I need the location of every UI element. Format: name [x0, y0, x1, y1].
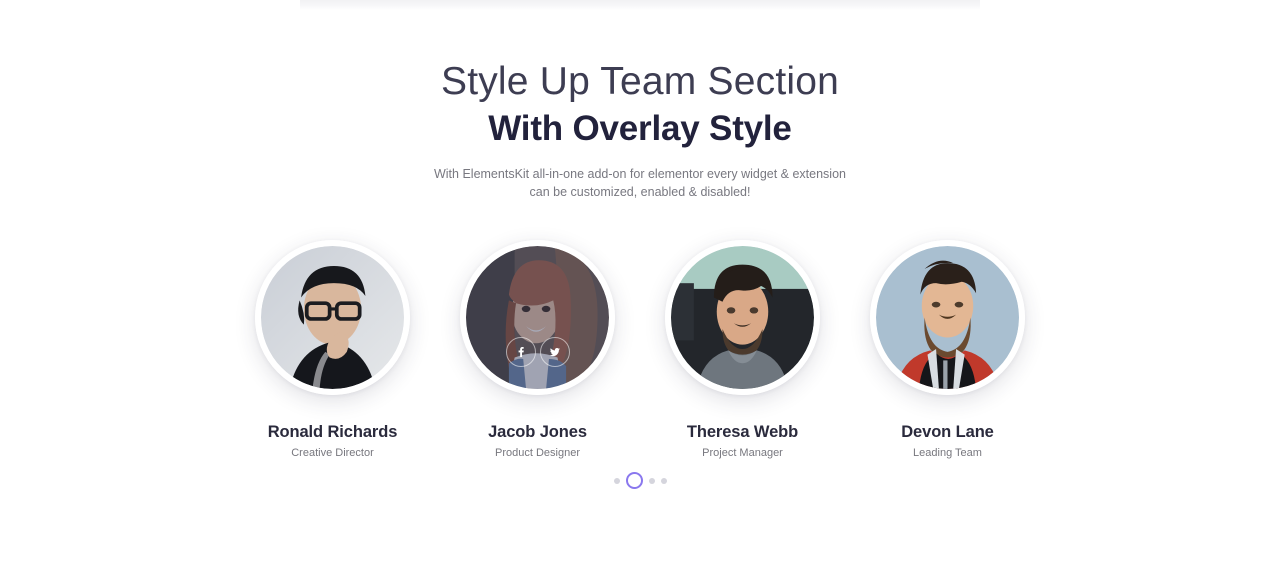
pagination-dot-active[interactable] — [626, 472, 643, 489]
member-role: Creative Director — [291, 447, 374, 459]
pagination-dot[interactable] — [614, 478, 620, 484]
team-members-row: Ronald Richards Creative Director — [0, 240, 1280, 459]
team-member-card[interactable]: Devon Lane Leading Team — [870, 240, 1025, 459]
section-subtitle: With ElementsKit all-in-one add-on for e… — [430, 165, 850, 201]
social-overlay — [466, 246, 609, 389]
member-name: Theresa Webb — [687, 423, 798, 442]
member-role: Leading Team — [913, 447, 982, 459]
avatar-wrapper[interactable] — [870, 240, 1025, 395]
section-header: Style Up Team Section With Overlay Style… — [0, 0, 1280, 201]
subtitle-line-1: With ElementsKit all-in-one add-on for e… — [434, 167, 846, 181]
avatar — [261, 246, 404, 389]
member-name: Devon Lane — [901, 423, 994, 442]
pagination-dot[interactable] — [649, 478, 655, 484]
team-member-card[interactable]: Jacob Jones Product Designer — [460, 240, 615, 459]
section-title-bold: With Overlay Style — [0, 108, 1280, 149]
member-name: Ronald Richards — [268, 423, 398, 442]
member-role: Product Designer — [495, 447, 580, 459]
avatar-wrapper[interactable] — [255, 240, 410, 395]
team-member-card[interactable]: Ronald Richards Creative Director — [255, 240, 410, 459]
facebook-icon[interactable] — [506, 337, 536, 367]
team-section-page: Style Up Team Section With Overlay Style… — [0, 0, 1280, 562]
member-role: Project Manager — [702, 447, 783, 459]
social-links — [506, 337, 570, 367]
subtitle-line-2: can be customized, enabled & disabled! — [530, 185, 751, 199]
avatar — [671, 246, 814, 389]
team-member-card[interactable]: Theresa Webb Project Manager — [665, 240, 820, 459]
pagination-dot[interactable] — [661, 478, 667, 484]
avatar-wrapper[interactable] — [665, 240, 820, 395]
twitter-icon[interactable] — [540, 337, 570, 367]
carousel-pagination[interactable] — [0, 472, 1280, 489]
avatar-wrapper[interactable] — [460, 240, 615, 395]
member-name: Jacob Jones — [488, 423, 587, 442]
section-title-light: Style Up Team Section — [0, 60, 1280, 104]
avatar — [876, 246, 1019, 389]
